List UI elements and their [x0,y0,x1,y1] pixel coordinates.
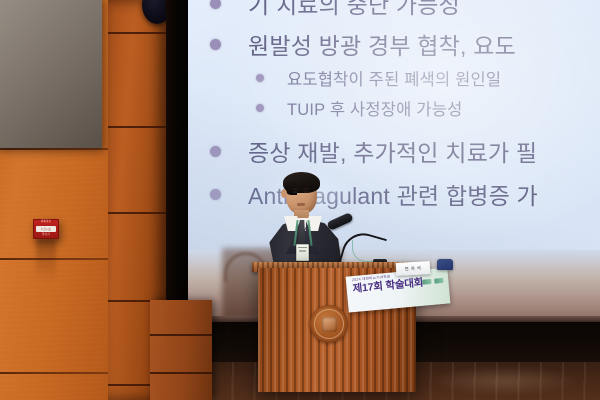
name-card-text: 연 자 석 [405,265,422,272]
bullet-dot-icon [256,104,264,112]
speaker-name-card: 연 자 석 [396,261,431,276]
fire-alarm-shadow [36,239,56,281]
projection-screen: 기 치료의 중단 가능성 원발성 방광 경부 협착, 요도 요도협착이 주된 폐… [188,0,600,272]
speaker-mouth [297,203,305,206]
speaker-name-badge [296,244,309,261]
floor-light-sheen [430,366,580,396]
column-seam [108,32,166,34]
speaker-hair [283,172,320,193]
speaker-eye [293,191,297,193]
banner-logo-icon [434,278,443,284]
slide-bullet-line: Anticoagulant 관련 합병증 가 [210,177,538,211]
fire-alarm-box[interactable]: 화재경보 누르시오 발신기 [33,219,59,239]
column-seam [108,126,166,128]
slide-bullet-line: 원발성 방광 경부 협착, 요도 [210,27,516,61]
side-table [150,300,212,400]
emblem-icon [310,305,348,343]
bullet-dot-icon [210,39,221,50]
fire-alarm-bottom-label: 발신기 [42,234,50,237]
speaker-eyebrow [303,188,309,190]
bullet-dot-icon [210,0,221,9]
emblem-core [322,317,337,332]
desk-object [437,259,453,270]
conference-photo-scene: 화재경보 누르시오 발신기 기 치료의 중단 가능성 원발성 방광 경부 협착,… [0,0,600,400]
slide-line-text: 원발성 방광 경부 협착, 요도 [248,27,516,61]
slide-line-text: TUIP 후 사정장애 가능성 [287,96,462,120]
side-table-seam [150,372,212,374]
slide-line-text: 요도협착이 주된 폐색의 원인일 [287,66,501,90]
bullet-dot-icon [210,146,221,157]
badge-line [298,247,307,248]
side-table-seam [150,334,212,336]
banner-logo-icon [422,279,431,285]
ceiling-acoustic-panel [0,0,102,148]
slide-sub-bullet-line: TUIP 후 사정장애 가능성 [256,96,462,120]
column-seam [108,212,166,214]
slide-line-text: 기 치료의 중단 가능성 [248,0,460,20]
slide-bullet-line: 기 치료의 중단 가능성 [210,0,460,20]
microphone-icon [329,219,381,265]
speaker-eye [304,191,308,193]
speaker-eyebrow [292,188,298,190]
slide-bullet-line: 증상 재발, 추가적인 치료가 필 [210,134,537,168]
speaker-ear [281,189,287,198]
fire-alarm-strip-label: 누르시오 [36,226,56,232]
slide-sub-bullet-line: 요도협착이 주된 폐색의 원인일 [256,66,501,90]
fire-alarm-top-label: 화재경보 [41,221,51,224]
bullet-dot-icon [256,74,264,82]
badge-line [299,250,306,251]
slide-line-text: 증상 재발, 추가적인 치료가 필 [248,134,537,168]
emblem-ring [314,309,344,339]
presentation-slide: 기 치료의 중단 가능성 원발성 방광 경부 협착, 요도 요도협착이 주된 폐… [188,0,600,272]
bullet-dot-icon [210,189,221,200]
